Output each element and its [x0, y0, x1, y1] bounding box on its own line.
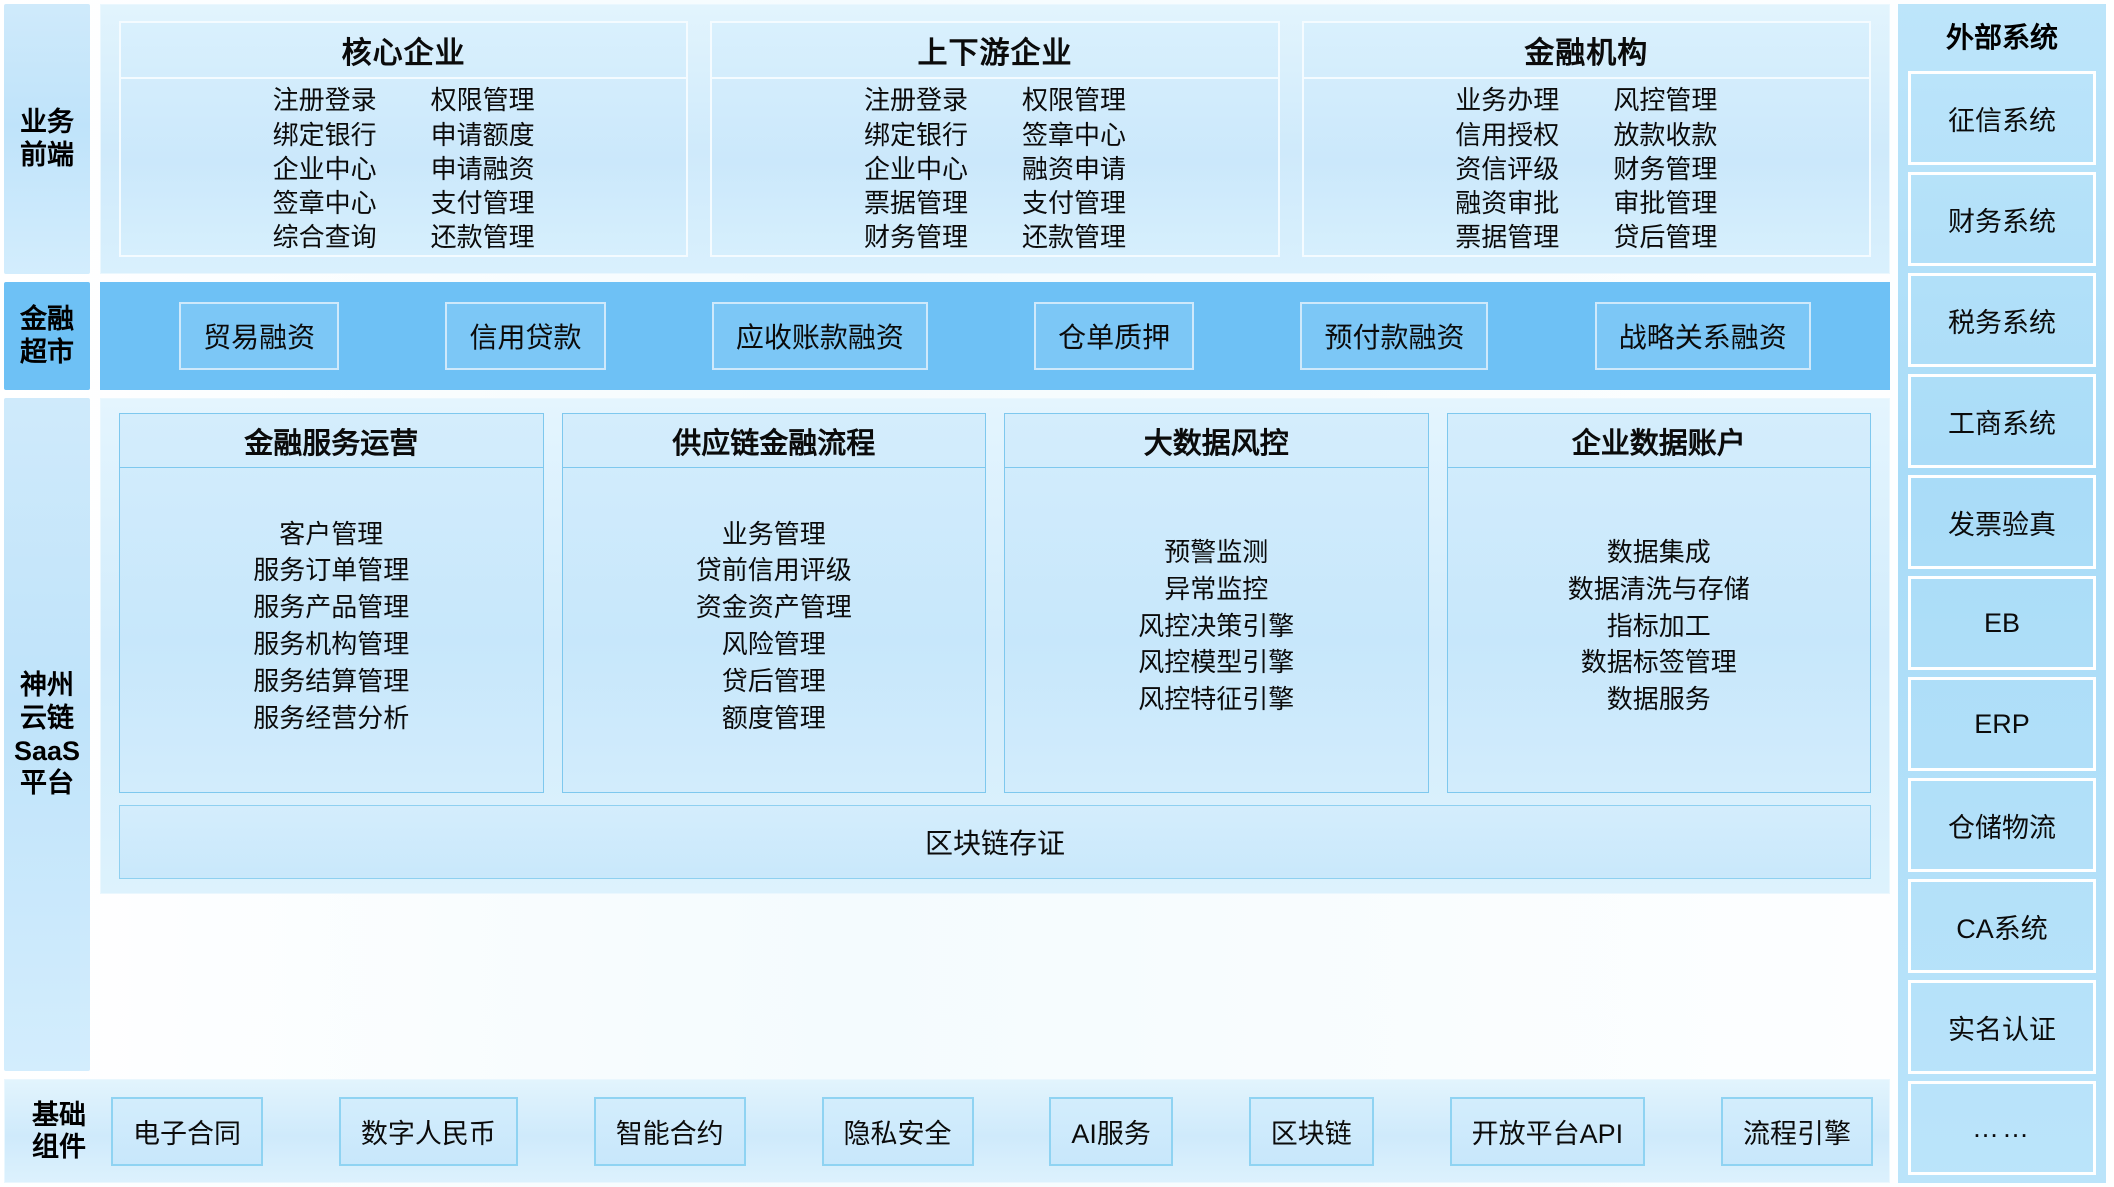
feature-item[interactable]: 权限管理 — [1022, 83, 1126, 117]
role-feature-column-2: 权限管理 签章中心 融资申请 支付管理 还款管理 — [1022, 83, 1126, 255]
layer-financial-supermarket: 金融 超市 贸易融资 信用贷款 应收账款融资 仓单质押 预付款融资 战略关系融资 — [4, 282, 1890, 390]
role-title: 金融机构 — [1304, 23, 1869, 79]
external-system-chip[interactable]: 实名认证 — [1908, 980, 2096, 1074]
financial-supermarket-panel: 贸易融资 信用贷款 应收账款融资 仓单质押 预付款融资 战略关系融资 — [100, 282, 1890, 390]
external-system-chip[interactable]: 税务系统 — [1908, 273, 2096, 367]
feature-item[interactable]: 风控管理 — [1613, 83, 1717, 117]
external-system-chip[interactable]: 发票验真 — [1908, 475, 2096, 569]
feature-item[interactable]: 综合查询 — [273, 220, 377, 254]
saas-platform-panel: 金融服务运营 客户管理 服务订单管理 服务产品管理 服务机构管理 服务结算管理 … — [100, 398, 1890, 894]
module-item[interactable]: 服务结算管理 — [253, 664, 409, 699]
finance-product-chip[interactable]: 信用贷款 — [445, 302, 605, 370]
layer-label-business-frontend: 业务 前端 — [4, 4, 90, 274]
module-item[interactable]: 数据标签管理 — [1581, 645, 1737, 680]
module-item[interactable]: 风控决策引擎 — [1138, 609, 1294, 644]
feature-item[interactable]: 企业中心 — [273, 152, 377, 186]
feature-item[interactable]: 企业中心 — [864, 152, 968, 186]
feature-item[interactable]: 放款收款 — [1613, 118, 1717, 152]
business-frontend-panel: 核心企业 注册登录 绑定银行 企业中心 签章中心 综合查询 权限管理 申请额度 — [100, 4, 1890, 274]
feature-item[interactable]: 签章中心 — [273, 186, 377, 220]
finance-product-chip[interactable]: 贸易融资 — [179, 302, 339, 370]
module-item[interactable]: 贷前信用评级 — [696, 553, 852, 588]
module-item[interactable]: 服务产品管理 — [253, 590, 409, 625]
component-chip[interactable]: 数字人民币 — [339, 1097, 518, 1166]
component-chip-list: 电子合同 数字人民币 智能合约 隐私安全 AI服务 区块链 开放平台API 流程… — [111, 1097, 1873, 1166]
module-item[interactable]: 资金资产管理 — [696, 590, 852, 625]
feature-item[interactable]: 贷后管理 — [1613, 220, 1717, 254]
feature-item[interactable]: 资信评级 — [1455, 152, 1559, 186]
role-feature-columns: 业务办理 信用授权 资信评级 融资审批 票据管理 风控管理 放款收款 财务管理 … — [1304, 79, 1869, 255]
finance-product-chip[interactable]: 仓单质押 — [1034, 302, 1194, 370]
layer-label-basic-components: 基础 组件 — [21, 1099, 97, 1164]
component-chip[interactable]: 智能合约 — [594, 1097, 746, 1166]
layer-business-frontend: 业务 前端 核心企业 注册登录 绑定银行 企业中心 签章中心 综合查询 权限管 — [4, 4, 1890, 274]
feature-item[interactable]: 申请融资 — [431, 152, 535, 186]
layer-basic-components: 基础 组件 电子合同 数字人民币 智能合约 隐私安全 AI服务 区块链 开放平台… — [4, 1079, 1890, 1183]
module-item[interactable]: 客户管理 — [279, 517, 383, 552]
feature-item[interactable]: 融资申请 — [1022, 152, 1126, 186]
role-feature-columns: 注册登录 绑定银行 企业中心 签章中心 综合查询 权限管理 申请额度 申请融资 … — [121, 79, 686, 255]
module-title: 供应链金融流程 — [563, 414, 986, 468]
role-feature-column-1: 业务办理 信用授权 资信评级 融资审批 票据管理 — [1455, 83, 1559, 255]
main-layer-stack: 业务 前端 核心企业 注册登录 绑定银行 企业中心 签章中心 综合查询 权限管 — [4, 4, 1890, 1183]
component-chip[interactable]: 区块链 — [1249, 1097, 1374, 1166]
module-item-list: 客户管理 服务订单管理 服务产品管理 服务机构管理 服务结算管理 服务经营分析 — [120, 468, 543, 792]
module-item-list: 数据集成 数据清洗与存储 指标加工 数据标签管理 数据服务 — [1448, 468, 1871, 792]
role-feature-column-2: 权限管理 申请额度 申请融资 支付管理 还款管理 — [431, 83, 535, 255]
module-item[interactable]: 风控模型引擎 — [1138, 645, 1294, 680]
module-card-supply-chain-finance-process[interactable]: 供应链金融流程 业务管理 贷前信用评级 资金资产管理 风险管理 贷后管理 额度管… — [562, 413, 987, 793]
feature-item[interactable]: 注册登录 — [273, 83, 377, 117]
external-systems-title: 外部系统 — [1946, 10, 2058, 64]
feature-item[interactable]: 注册登录 — [864, 83, 968, 117]
module-title: 大数据风控 — [1005, 414, 1428, 468]
external-system-chip[interactable]: ERP — [1908, 677, 2096, 771]
external-system-chip[interactable]: 财务系统 — [1908, 172, 2096, 266]
role-card-core-enterprise[interactable]: 核心企业 注册登录 绑定银行 企业中心 签章中心 综合查询 权限管理 申请额度 — [119, 21, 688, 257]
feature-item[interactable]: 融资审批 — [1455, 186, 1559, 220]
role-title: 上下游企业 — [712, 23, 1277, 79]
layer-label-saas-platform: 神州 云链 SaaS 平台 — [4, 398, 90, 1071]
component-chip[interactable]: 隐私安全 — [822, 1097, 974, 1166]
external-system-chip-more[interactable]: …… — [1908, 1081, 2096, 1175]
component-chip[interactable]: 开放平台API — [1450, 1097, 1646, 1166]
finance-product-chip[interactable]: 预付款融资 — [1300, 302, 1488, 370]
module-item[interactable]: 数据清洗与存储 — [1568, 572, 1750, 607]
feature-item[interactable]: 业务办理 — [1455, 83, 1559, 117]
feature-item[interactable]: 还款管理 — [1022, 220, 1126, 254]
feature-item[interactable]: 支付管理 — [1022, 186, 1126, 220]
module-card-big-data-risk-control[interactable]: 大数据风控 预警监测 异常监控 风控决策引擎 风控模型引擎 风控特征引擎 — [1004, 413, 1429, 793]
module-item[interactable]: 贷后管理 — [722, 664, 826, 699]
role-feature-column-1: 注册登录 绑定银行 企业中心 签章中心 综合查询 — [273, 83, 377, 255]
feature-item[interactable]: 申请额度 — [431, 118, 535, 152]
module-item-list: 预警监测 异常监控 风控决策引擎 风控模型引擎 风控特征引擎 — [1005, 468, 1428, 792]
module-item[interactable]: 风控特征引擎 — [1138, 682, 1294, 717]
feature-item[interactable]: 支付管理 — [431, 186, 535, 220]
external-system-chip[interactable]: EB — [1908, 576, 2096, 670]
feature-item[interactable]: 票据管理 — [1455, 220, 1559, 254]
module-item[interactable]: 异常监控 — [1164, 572, 1268, 607]
module-item[interactable]: 数据集成 — [1607, 535, 1711, 570]
external-system-chip[interactable]: CA系统 — [1908, 879, 2096, 973]
feature-item[interactable]: 审批管理 — [1613, 186, 1717, 220]
feature-item[interactable]: 还款管理 — [431, 220, 535, 254]
feature-item[interactable]: 财务管理 — [1613, 152, 1717, 186]
module-title: 金融服务运营 — [120, 414, 543, 468]
blockchain-evidence-bar[interactable]: 区块链存证 — [119, 805, 1871, 879]
module-item[interactable]: 指标加工 — [1607, 609, 1711, 644]
external-system-chip[interactable]: 工商系统 — [1908, 374, 2096, 468]
feature-item[interactable]: 签章中心 — [1022, 118, 1126, 152]
module-item[interactable]: 业务管理 — [722, 517, 826, 552]
external-system-chip[interactable]: 仓储物流 — [1908, 778, 2096, 872]
role-feature-column-2: 风控管理 放款收款 财务管理 审批管理 贷后管理 — [1613, 83, 1717, 255]
module-title: 企业数据账户 — [1448, 414, 1871, 468]
module-item[interactable]: 服务经营分析 — [253, 701, 409, 736]
component-chip[interactable]: 电子合同 — [111, 1097, 263, 1166]
external-system-chip[interactable]: 征信系统 — [1908, 71, 2096, 165]
feature-item[interactable]: 票据管理 — [864, 186, 968, 220]
module-item[interactable]: 数据服务 — [1607, 682, 1711, 717]
external-systems-sidebar: 外部系统 征信系统 财务系统 税务系统 工商系统 发票验真 EB ERP 仓储物… — [1898, 4, 2106, 1183]
component-chip[interactable]: AI服务 — [1049, 1097, 1173, 1166]
basic-components-panel: 基础 组件 电子合同 数字人民币 智能合约 隐私安全 AI服务 区块链 开放平台… — [4, 1079, 1890, 1183]
module-item[interactable]: 服务机构管理 — [253, 627, 409, 662]
module-item[interactable]: 风险管理 — [722, 627, 826, 662]
module-item-list: 业务管理 贷前信用评级 资金资产管理 风险管理 贷后管理 额度管理 — [563, 468, 986, 792]
role-card-upstream-downstream-enterprise[interactable]: 上下游企业 注册登录 绑定银行 企业中心 票据管理 财务管理 权限管理 签章中心 — [710, 21, 1279, 257]
architecture-diagram: 业务 前端 核心企业 注册登录 绑定银行 企业中心 签章中心 综合查询 权限管 — [0, 0, 2114, 1187]
module-card-enterprise-data-account[interactable]: 企业数据账户 数据集成 数据清洗与存储 指标加工 数据标签管理 数据服务 — [1447, 413, 1872, 793]
role-title: 核心企业 — [121, 23, 686, 79]
layer-label-financial-supermarket: 金融 超市 — [4, 282, 90, 390]
feature-item[interactable]: 绑定银行 — [864, 118, 968, 152]
module-item[interactable]: 预警监测 — [1164, 535, 1268, 570]
component-chip[interactable]: 流程引擎 — [1721, 1097, 1873, 1166]
module-card-financial-service-operation[interactable]: 金融服务运营 客户管理 服务订单管理 服务产品管理 服务机构管理 服务结算管理 … — [119, 413, 544, 793]
finance-product-chip[interactable]: 战略关系融资 — [1595, 302, 1811, 370]
role-feature-columns: 注册登录 绑定银行 企业中心 票据管理 财务管理 权限管理 签章中心 融资申请 … — [712, 79, 1277, 255]
module-item[interactable]: 服务订单管理 — [253, 553, 409, 588]
role-feature-column-1: 注册登录 绑定银行 企业中心 票据管理 财务管理 — [864, 83, 968, 255]
saas-module-row: 金融服务运营 客户管理 服务订单管理 服务产品管理 服务机构管理 服务结算管理 … — [119, 413, 1871, 793]
feature-item[interactable]: 财务管理 — [864, 220, 968, 254]
role-card-financial-institution[interactable]: 金融机构 业务办理 信用授权 资信评级 融资审批 票据管理 风控管理 放款收款 — [1302, 21, 1871, 257]
feature-item[interactable]: 绑定银行 — [273, 118, 377, 152]
feature-item[interactable]: 权限管理 — [431, 83, 535, 117]
finance-product-chip[interactable]: 应收账款融资 — [712, 302, 928, 370]
feature-item[interactable]: 信用授权 — [1455, 118, 1559, 152]
module-item[interactable]: 额度管理 — [722, 701, 826, 736]
layer-saas-platform: 神州 云链 SaaS 平台 金融服务运营 客户管理 服务订单管理 服务产品管理 … — [4, 398, 1890, 1071]
